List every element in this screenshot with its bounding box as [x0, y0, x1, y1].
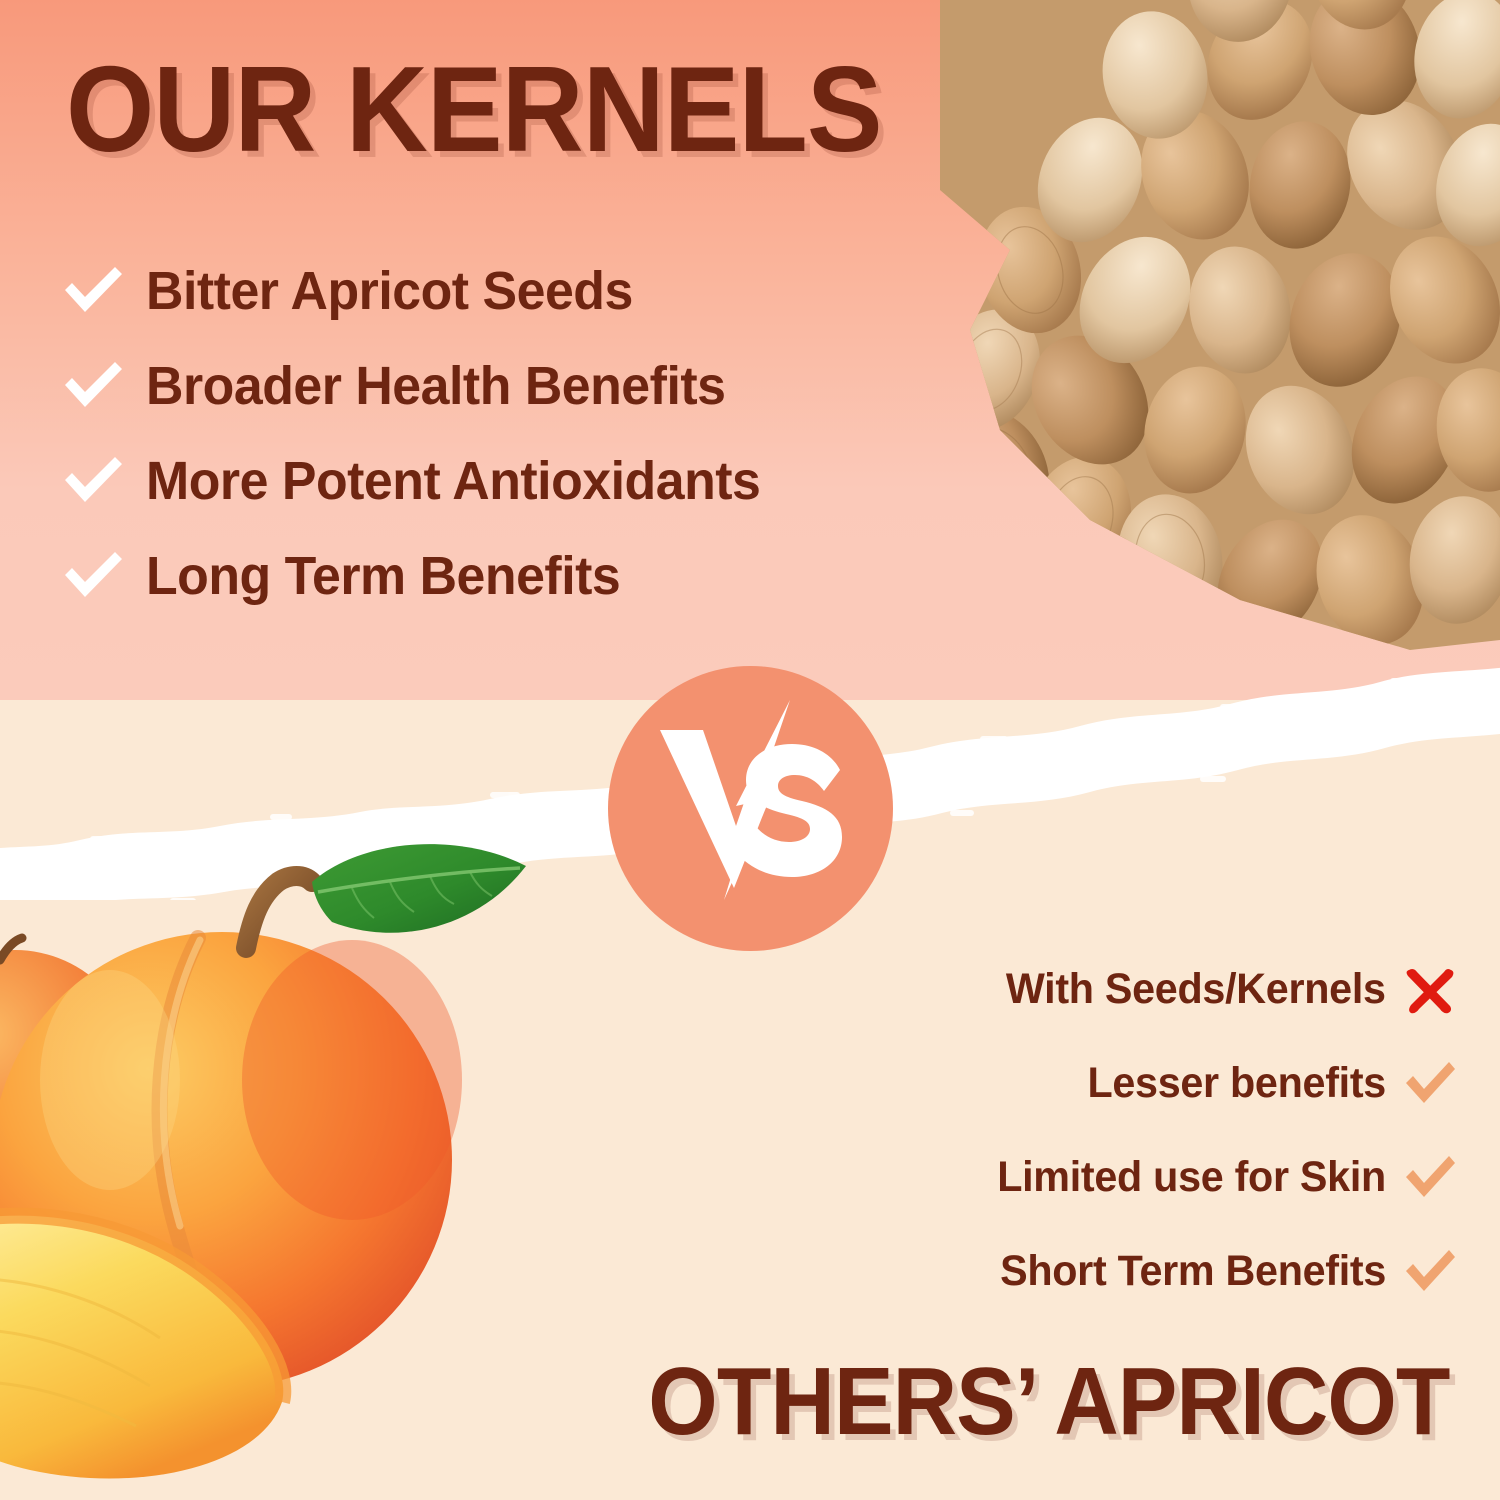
- check-tan-icon: [1402, 1246, 1458, 1296]
- list-item-label: Limited use for Skin: [997, 1156, 1386, 1199]
- check-white-icon: [60, 453, 126, 509]
- versus-badge: [608, 666, 893, 951]
- check-white-icon: [60, 263, 126, 319]
- check-white-icon: [60, 358, 126, 414]
- our-kernels-feature-list: Bitter Apricot Seeds Broader Health Bene…: [60, 258, 1020, 609]
- apricot-kernels-photo: [940, 0, 1500, 660]
- list-item: Bitter Apricot Seeds: [60, 258, 1020, 324]
- list-item: Broader Health Benefits: [60, 353, 1020, 419]
- others-apricot-feature-list: With Seeds/Kernels Lesser benefits Limit…: [818, 962, 1458, 1298]
- list-item: With Seeds/Kernels: [818, 962, 1458, 1016]
- list-item-label: Bitter Apricot Seeds: [146, 264, 633, 318]
- list-item: Lesser benefits: [818, 1056, 1458, 1110]
- apricot-fruit-photo: [0, 830, 580, 1500]
- list-item-label: Short Term Benefits: [1000, 1250, 1386, 1293]
- page-title-others-apricot: OTHERS’ APRICOT: [649, 1352, 1450, 1453]
- cross-red-icon: [1402, 964, 1458, 1014]
- list-item-label: Broader Health Benefits: [146, 359, 726, 413]
- list-item-label: With Seeds/Kernels: [1006, 968, 1386, 1011]
- list-item: Short Term Benefits: [818, 1244, 1458, 1298]
- check-tan-icon: [1402, 1152, 1458, 1202]
- list-item-label: More Potent Antioxidants: [146, 454, 760, 508]
- list-item: Long Term Benefits: [60, 543, 1020, 609]
- list-item-label: Long Term Benefits: [146, 549, 620, 603]
- check-tan-icon: [1402, 1058, 1458, 1108]
- list-item: More Potent Antioxidants: [60, 448, 1020, 514]
- list-item: Limited use for Skin: [818, 1150, 1458, 1204]
- page-title-our-kernels: OUR KERNELS: [66, 45, 882, 173]
- comparison-infographic: OUR KERNELS Bitter Apricot Seeds Broader…: [0, 0, 1500, 1500]
- check-white-icon: [60, 548, 126, 604]
- list-item-label: Lesser benefits: [1087, 1062, 1386, 1105]
